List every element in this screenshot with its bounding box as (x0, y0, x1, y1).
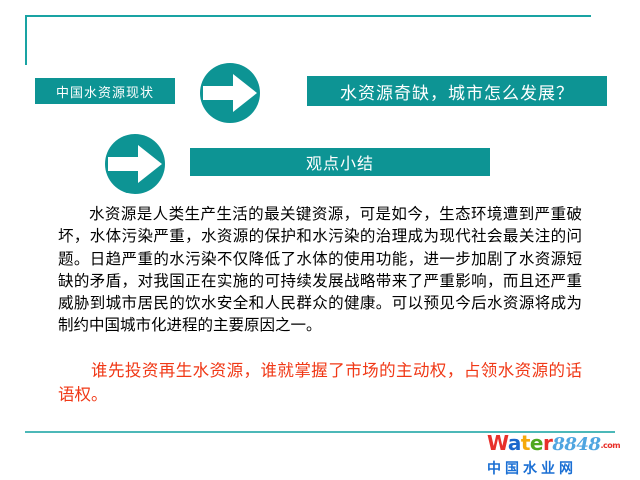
logo-letter-r: r (543, 431, 552, 455)
logo-letter-a: a (508, 431, 521, 455)
logo-letter-w: W (487, 431, 508, 455)
logo-letter-t: t (521, 431, 530, 455)
water8848-logo: Water8848.com 中国水业网 (487, 433, 615, 478)
slide-title-banner: 水资源奇缺，城市怎么发展？ (307, 76, 607, 106)
highlight-paragraph: 谁先投资再生水资源，谁就掌握了市场的主动权，占领水资源的话语权。 (58, 359, 582, 407)
logo-tld: .com (600, 441, 620, 450)
logo-chinese-name: 中国水业网 (487, 458, 615, 478)
body-paragraph: 水资源是人类生产生活的最关键资源，可是如今，生态环境遭到严重破坏，水体污染严重，… (58, 203, 582, 337)
logo-number: 8848 (552, 434, 600, 455)
circle-arrow-right-icon-secondary (104, 133, 166, 195)
logo-wordmark: Water8848.com (487, 433, 615, 456)
section-kicker-banner: 中国水资源现状 (35, 78, 175, 104)
slide-subtitle-banner: 观点小结 (190, 148, 490, 176)
circle-arrow-right-icon (199, 62, 261, 124)
slide-canvas: 中国水资源现状 水资源奇缺，城市怎么发展？ 观点小结 水资源是人类生产生活的最关… (0, 0, 640, 480)
corner-rule-decoration (25, 15, 591, 65)
logo-letter-e: e (530, 431, 543, 455)
